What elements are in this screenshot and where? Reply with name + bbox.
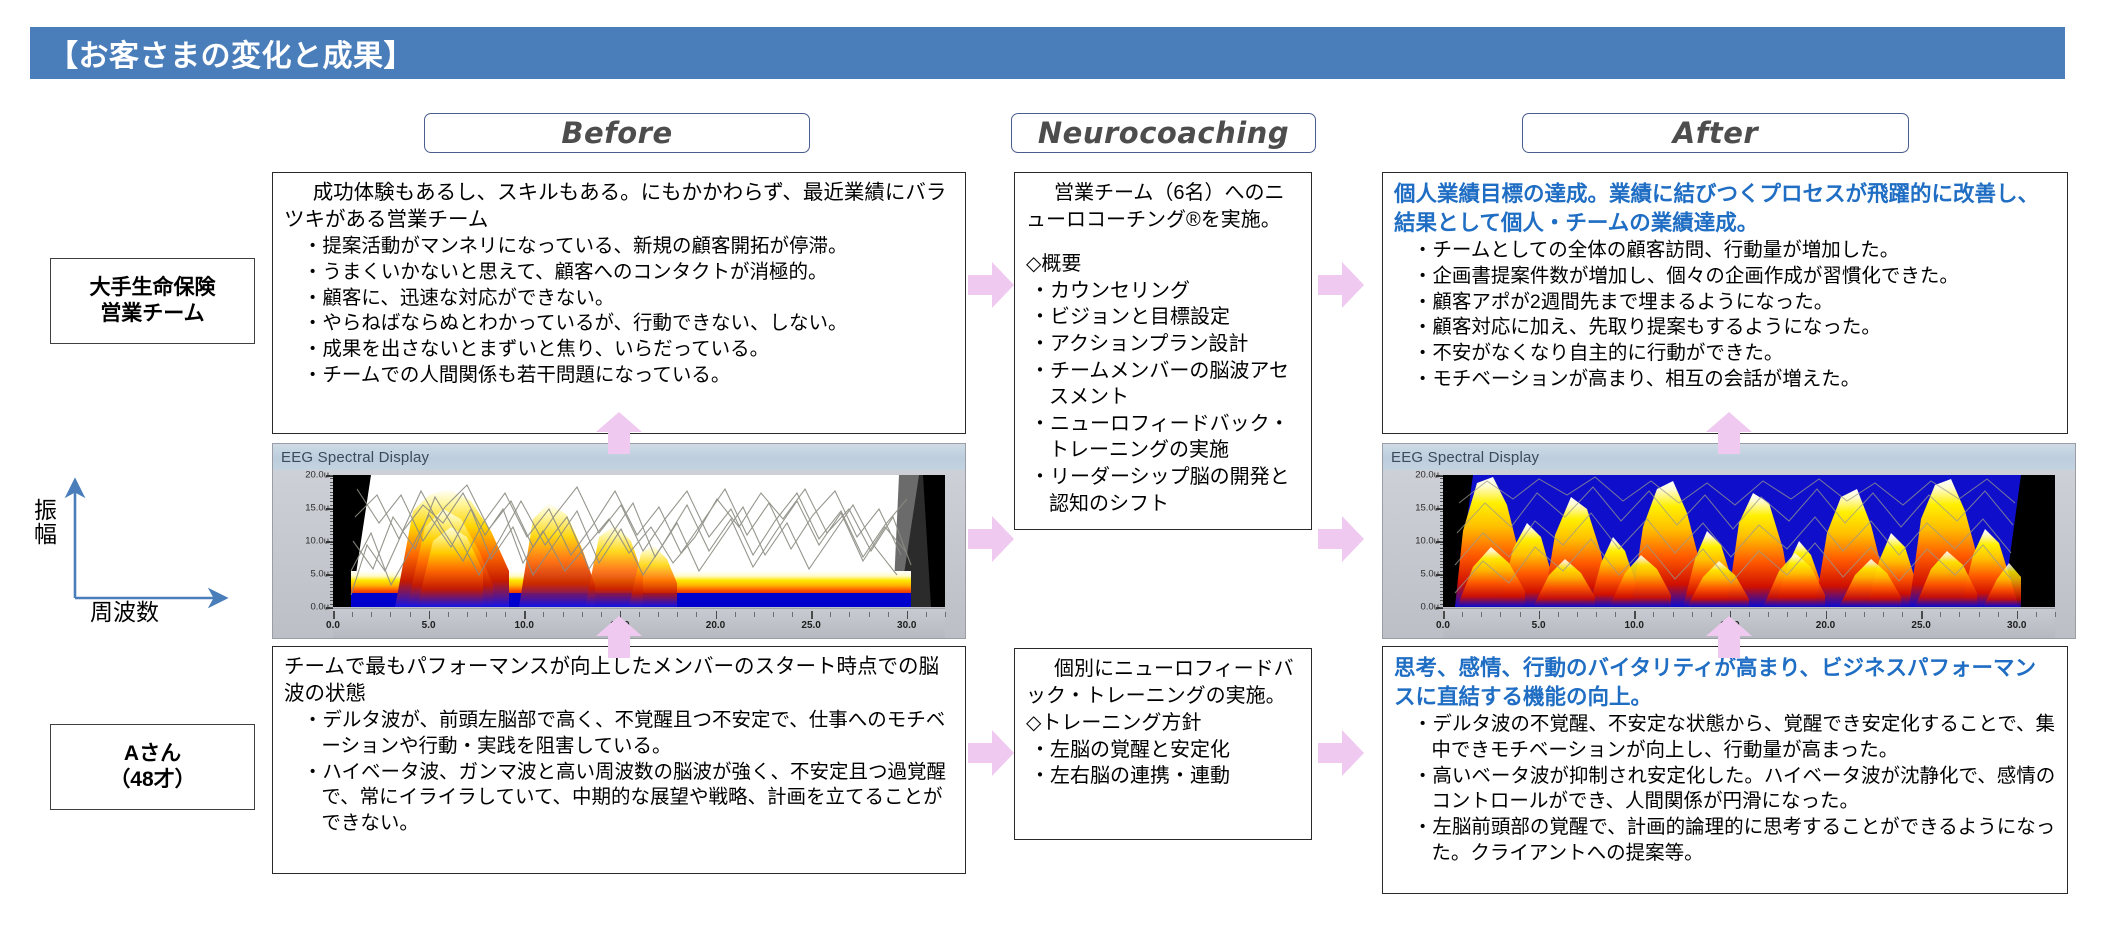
after-team-bullet-list: チームとしての全体の顧客訪問、行動量が増加した。 企画書提案件数が増加し、個々の… — [1394, 238, 2057, 392]
eeg-x-tick-label: 20.0 — [706, 620, 725, 631]
axis-label-amplitude: 振幅 — [34, 498, 60, 546]
list-item: チームメンバーの脳波アセスメント — [1026, 358, 1301, 411]
eeg-x-minor-tick — [563, 612, 564, 617]
eeg-x-minor-tick — [410, 612, 411, 617]
column-header-after-label: After — [1673, 116, 1758, 150]
eeg-x-tick-mark — [907, 611, 909, 619]
before-person-bullet-list: デルタ波が、前頭左脳部で高く、不覚醒且つ不安定で、仕事へのモチベーションや行動・… — [284, 708, 955, 837]
eeg-x-minor-tick — [926, 612, 927, 617]
eeg-x-minor-tick — [352, 612, 353, 617]
eeg-x-minor-tick — [1883, 612, 1884, 617]
eeg-x-tick-label: 0.0 — [1436, 620, 1450, 631]
eeg-plot-after — [1443, 475, 2055, 607]
slide-header-bar: 【お客さまの変化と成果】 — [30, 27, 2065, 79]
arrow-up-icon — [1706, 616, 1752, 658]
eeg-x-tick-mark — [811, 611, 813, 619]
row-label-person-line1: Aさん — [124, 741, 181, 767]
after-person-lead: 思考、感情、行動のバイタリティが高まり、ビジネスパフォーマンスに直結する機能の向… — [1394, 654, 2057, 711]
before-person-lead: チームで最もパフォーマンスが向上したメンバーのスタート時点での脳波の状態 — [284, 654, 955, 707]
eeg-x-minor-tick — [869, 612, 870, 617]
arrow-up-icon — [1706, 412, 1752, 454]
list-item: デルタ波の不覚醒、不安定な状態から、覚醒でき安定化することで、集中できモチベーシ… — [1409, 712, 2057, 763]
list-item: 成果を出さないとまずいと焦り、いらだっている。 — [299, 337, 955, 363]
page-title: 【お客さまの変化と成果】 — [30, 31, 414, 75]
list-item: リーダーシップ脳の開発と認知のシフト — [1026, 464, 1301, 517]
neurofeedback-training-lead: 個別にニューロフィードバック・トレーニングの実施。 — [1026, 656, 1301, 709]
eeg-x-minor-tick — [1577, 612, 1578, 617]
neurofeedback-training-bullet-list: 左脳の覚醒と安定化 左右脳の連携・連動 — [1026, 737, 1301, 790]
list-item: 顧客対応に加え、先取り提案もするようになった。 — [1409, 315, 2057, 341]
row-label-team-line2: 営業チーム — [100, 301, 204, 327]
eeg-x-minor-tick — [849, 612, 850, 617]
eeg-x-tick-label: 0.0 — [326, 620, 340, 631]
eeg-title-label: EEG Spectral Display — [1383, 449, 1539, 466]
column-header-after: After — [1522, 113, 1909, 153]
list-item: カウンセリング — [1026, 278, 1301, 305]
list-item: ハイベータ波、ガンマ波と高い周波数の脳波が強く、不安定且つ過覚醒で、常にイライラ… — [299, 760, 955, 837]
list-item: 企画書提案件数が増加し、個々の企画作成が習慣化できた。 — [1409, 264, 2057, 290]
column-header-before-label: Before — [561, 116, 672, 150]
eeg-x-minor-tick — [1520, 612, 1521, 617]
eeg-x-tick-mark — [429, 611, 431, 619]
eeg-x-minor-tick — [1653, 612, 1654, 617]
eeg-title-label: EEG Spectral Display — [273, 449, 429, 466]
eeg-x-tick-label: 25.0 — [1911, 620, 1930, 631]
arrow-right-icon — [1318, 726, 1364, 780]
eeg-x-minor-tick — [486, 612, 487, 617]
arrow-right-icon — [1318, 512, 1364, 566]
row-label-team: 大手生命保険 営業チーム — [50, 258, 255, 344]
eeg-x-minor-tick — [1902, 612, 1903, 617]
axis-label-frequency: 周波数 — [90, 600, 159, 624]
eeg-x-minor-tick — [2055, 612, 2056, 617]
eeg-x-tick-mark — [1634, 611, 1636, 619]
list-item: 高いベータ波が抑制され安定化した。ハイベータ波が沈静化で、感情のコントロールがで… — [1409, 764, 2057, 815]
eeg-x-minor-tick — [1500, 612, 1501, 617]
list-item: 顧客アポが2週間先まで埋まるようになった。 — [1409, 290, 2057, 316]
eeg-x-tick-label: 25.0 — [801, 620, 820, 631]
eeg-y-axis-after: 0.0u5.0u10.0u15.0u20.0u — [1391, 475, 1443, 607]
eeg-x-minor-tick — [1768, 612, 1769, 617]
eeg-x-tick-mark — [1921, 611, 1923, 619]
eeg-y-axis-before: 0.0u5.0u10.0u15.0u20.0u — [281, 475, 333, 607]
row-label-team-line1: 大手生命保険 — [90, 275, 216, 301]
eeg-x-minor-tick — [505, 612, 506, 617]
eeg-x-minor-tick — [1615, 612, 1616, 617]
eeg-body-after: 0.0u5.0u10.0u15.0u20.0u — [1383, 470, 2075, 639]
eeg-plot-before — [333, 475, 945, 607]
after-team-results-box: 個人業績目標の達成。業績に結びつくプロセスが飛躍的に改善し、結果として個人・チー… — [1382, 172, 2068, 434]
eeg-x-minor-tick — [390, 612, 391, 617]
list-item: ニューロフィードバック・トレーニングの実施 — [1026, 411, 1301, 464]
eeg-x-minor-tick — [735, 612, 736, 617]
eeg-x-minor-tick — [754, 612, 755, 617]
list-item: 顧客に、迅速な対応ができない。 — [299, 286, 955, 312]
before-team-bullet-list: 提案活動がマンネリになっている、新規の顧客開拓が停滞。 うまくいかないと思えて、… — [284, 234, 955, 388]
arrow-right-icon — [968, 726, 1014, 780]
list-item: 左脳の覚醒と安定化 — [1026, 737, 1301, 764]
eeg-x-tick-mark — [333, 611, 335, 619]
eeg-x-minor-tick — [773, 612, 774, 617]
list-item: やらねばならぬとわかっているが、行動できない、しない。 — [299, 311, 955, 337]
eeg-x-tick-mark — [716, 611, 718, 619]
eeg-x-tick-label: 30.0 — [897, 620, 916, 631]
arrow-right-icon — [968, 512, 1014, 566]
after-person-bullet-list: デルタ波の不覚醒、不安定な状態から、覚醒でき安定化することで、集中できモチベーシ… — [1394, 712, 2057, 866]
list-item: うまくいかないと思えて、顧客へのコンタクトが消極的。 — [299, 260, 955, 286]
eeg-x-tick-label: 10.0 — [1625, 620, 1644, 631]
eeg-spectral-display-after: EEG Spectral Display 0.0u5.0u10.0u15.0u2… — [1382, 443, 2076, 639]
column-header-before: Before — [424, 113, 810, 153]
arrow-up-icon — [596, 412, 642, 454]
neurofeedback-training-box: 個別にニューロフィードバック・トレーニングの実施。 ◇トレーニング方針 左脳の覚… — [1014, 648, 1312, 840]
row-label-person: Aさん （48才） — [50, 724, 255, 810]
eeg-x-minor-tick — [543, 612, 544, 617]
eeg-x-minor-tick — [582, 612, 583, 617]
amplitude-frequency-axis-diagram: 振幅 周波数 — [28, 460, 258, 640]
list-item: アクションプラン設計 — [1026, 331, 1301, 358]
eeg-x-minor-tick — [1998, 612, 1999, 617]
eeg-spectrogram-graphic-before — [333, 475, 945, 607]
list-item: ビジョンと目標設定 — [1026, 304, 1301, 331]
eeg-x-minor-tick — [1692, 612, 1693, 617]
eeg-x-minor-tick — [1959, 612, 1960, 617]
neurocoaching-overview-box: 営業チーム（6名）へのニューロコーチング®を実施。 ◇概要 カウンセリング ビジ… — [1014, 172, 1312, 530]
eeg-x-minor-tick — [1787, 612, 1788, 617]
eeg-x-tick-mark — [1826, 611, 1828, 619]
eeg-x-minor-tick — [1481, 612, 1482, 617]
eeg-x-minor-tick — [1596, 612, 1597, 617]
list-item: チームとしての全体の顧客訪問、行動量が増加した。 — [1409, 238, 2057, 264]
eeg-x-tick-label: 10.0 — [515, 620, 534, 631]
eeg-x-tick-label: 5.0 — [1532, 620, 1546, 631]
slide-canvas: 【お客さまの変化と成果】 Before Neurocoaching After … — [0, 0, 2102, 928]
eeg-x-minor-tick — [1806, 612, 1807, 617]
eeg-x-minor-tick — [830, 612, 831, 617]
eeg-x-minor-tick — [658, 612, 659, 617]
eeg-x-tick-mark — [524, 611, 526, 619]
eeg-x-minor-tick — [371, 612, 372, 617]
arrow-right-icon — [968, 258, 1014, 312]
list-item: 左脳前頭部の覚醒で、計画的論理的に思考することができるようになった。クライアント… — [1409, 815, 2057, 866]
eeg-x-minor-tick — [888, 612, 889, 617]
eeg-x-minor-tick — [945, 612, 946, 617]
eeg-x-minor-tick — [1979, 612, 1980, 617]
neurocoaching-overview-lead: 営業チーム（6名）へのニューロコーチング®を実施。 — [1026, 180, 1301, 233]
list-item: 不安がなくなり自主的に行動ができた。 — [1409, 341, 2057, 367]
spacer — [1026, 234, 1301, 251]
list-item: 提案活動がマンネリになっている、新規の顧客開拓が停滞。 — [299, 234, 955, 260]
eeg-x-minor-tick — [467, 612, 468, 617]
eeg-x-minor-tick — [1462, 612, 1463, 617]
row-label-person-line2: （48才） — [109, 767, 195, 793]
eeg-x-tick-mark — [1539, 611, 1541, 619]
eeg-x-minor-tick — [1845, 612, 1846, 617]
eeg-x-tick-label: 20.0 — [1816, 620, 1835, 631]
list-item: 左右脳の連携・連動 — [1026, 763, 1301, 790]
column-header-neurocoaching: Neurocoaching — [1011, 113, 1316, 153]
arrow-up-icon — [596, 616, 642, 658]
eeg-x-tick-label: 30.0 — [2007, 620, 2026, 631]
eeg-body-before: 0.0u5.0u10.0u15.0u20.0u — [273, 470, 965, 639]
before-team-lead: 成功体験もあるし、スキルもある。にもかかわらず、最近業績にバラツキがある営業チー… — [284, 180, 955, 233]
eeg-x-tick-mark — [1443, 611, 1445, 619]
before-team-description-box: 成功体験もあるし、スキルもある。にもかかわらず、最近業績にバラツキがある営業チー… — [272, 172, 966, 434]
after-team-lead: 個人業績目標の達成。業績に結びつくプロセスが飛躍的に改善し、結果として個人・チー… — [1394, 180, 2057, 237]
neurocoaching-overview-bullet-list: カウンセリング ビジョンと目標設定 アクションプラン設計 チームメンバーの脳波ア… — [1026, 278, 1301, 517]
eeg-x-minor-tick — [2036, 612, 2037, 617]
eeg-x-minor-tick — [696, 612, 697, 617]
eeg-x-tick-label: 5.0 — [422, 620, 436, 631]
eeg-x-minor-tick — [792, 612, 793, 617]
eeg-x-minor-tick — [1673, 612, 1674, 617]
eeg-spectrogram-graphic-after — [1443, 475, 2055, 607]
list-item: チームでの人間関係も若干問題になっている。 — [299, 363, 955, 389]
eeg-x-tick-mark — [2017, 611, 2019, 619]
after-person-results-box: 思考、感情、行動のバイタリティが高まり、ビジネスパフォーマンスに直結する機能の向… — [1382, 646, 2068, 894]
eeg-x-minor-tick — [1864, 612, 1865, 617]
list-item: モチベーションが高まり、相互の会話が増えた。 — [1409, 367, 2057, 393]
eeg-x-minor-tick — [677, 612, 678, 617]
neurocoaching-overview-heading: ◇概要 — [1026, 251, 1301, 278]
eeg-x-minor-tick — [448, 612, 449, 617]
list-item: デルタ波が、前頭左脳部で高く、不覚醒且つ不安定で、仕事へのモチベーションや行動・… — [299, 708, 955, 759]
neurofeedback-training-heading: ◇トレーニング方針 — [1026, 710, 1301, 737]
eeg-x-minor-tick — [1558, 612, 1559, 617]
before-person-description-box: チームで最もパフォーマンスが向上したメンバーのスタート時点での脳波の状態 デルタ… — [272, 646, 966, 874]
column-header-neurocoaching-label: Neurocoaching — [1038, 116, 1289, 150]
eeg-spectral-display-before: EEG Spectral Display 0.0u5.0u10.0u15.0u2… — [272, 443, 966, 639]
arrow-right-icon — [1318, 258, 1364, 312]
eeg-x-minor-tick — [1940, 612, 1941, 617]
